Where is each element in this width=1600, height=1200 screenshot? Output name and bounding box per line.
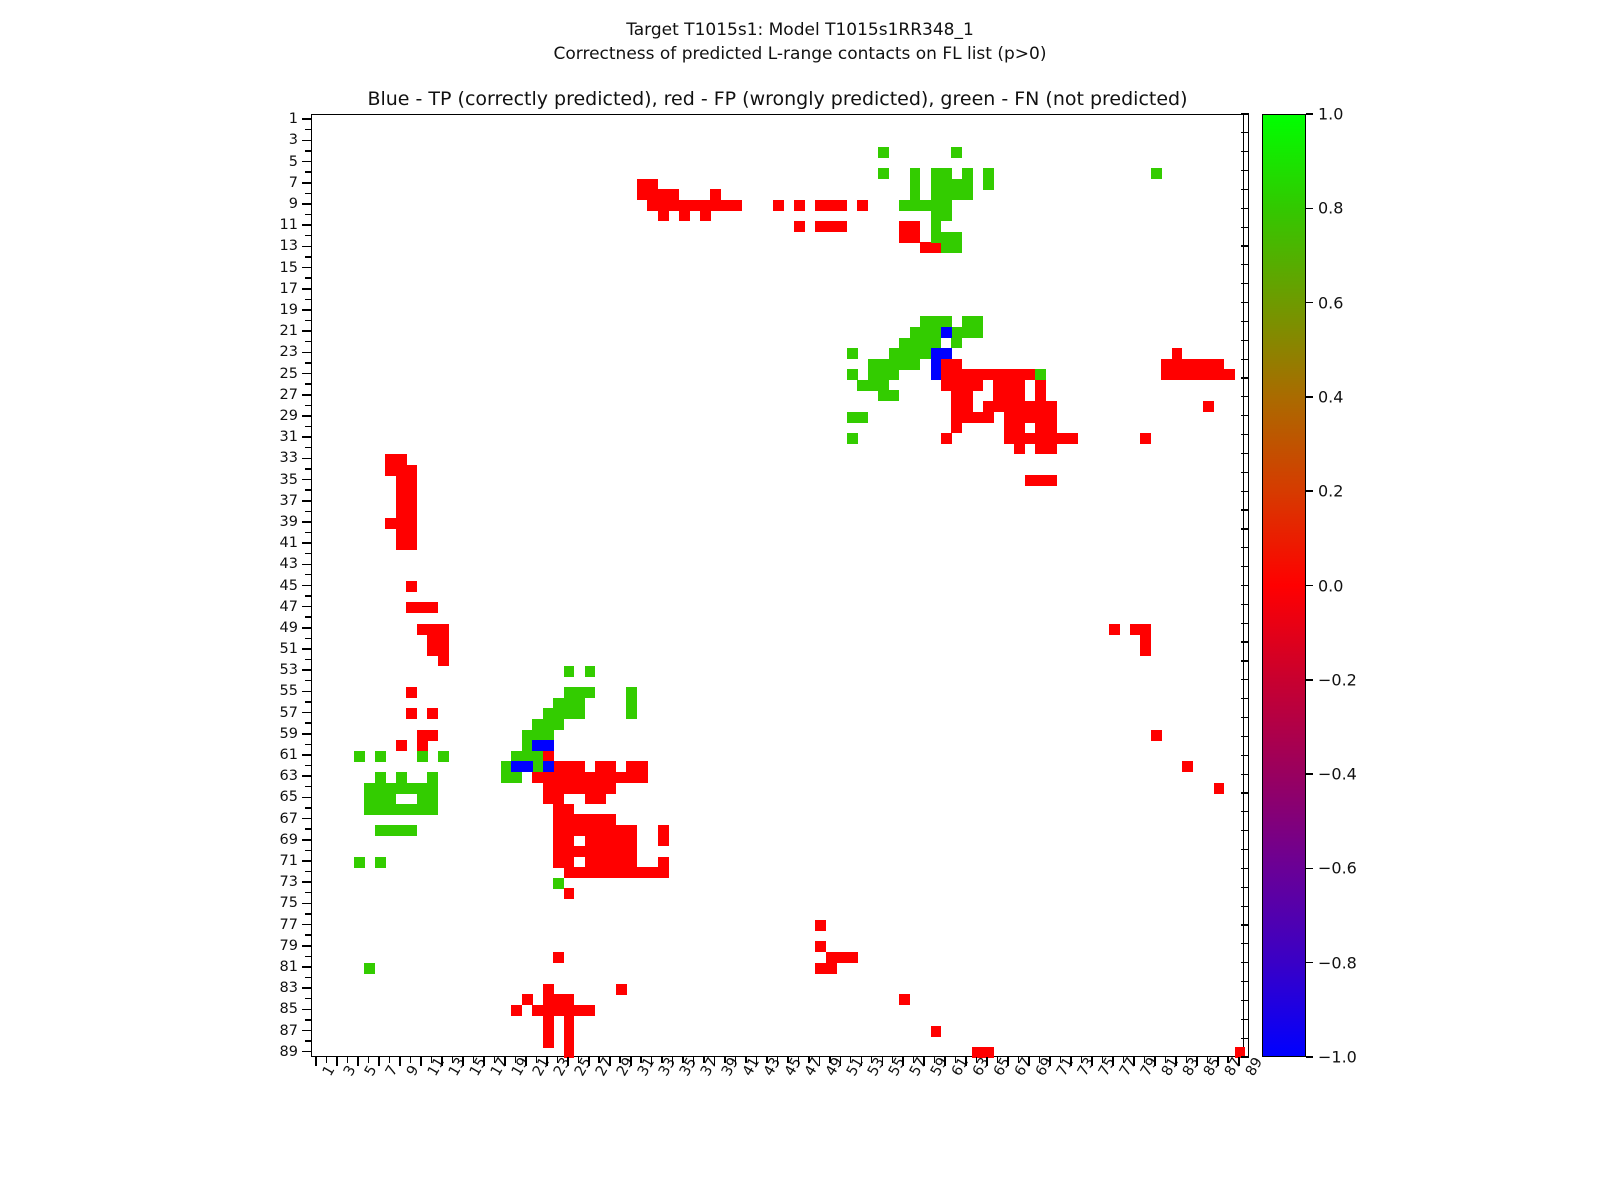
x-axis-tick: [630, 1057, 632, 1066]
contact-cell-fn: [385, 793, 396, 804]
y-axis-tick: [305, 680, 311, 681]
contact-cell-fp: [606, 846, 617, 857]
contact-cell-fp: [1046, 422, 1057, 433]
y-axis-tick: [305, 405, 311, 406]
colorbar-minor-tick: [1241, 359, 1249, 360]
colorbar-minor-tick: [1241, 208, 1249, 209]
contact-cell-fn: [543, 708, 554, 719]
contact-cell-fp: [543, 1005, 554, 1016]
contact-cell-fn: [972, 327, 983, 338]
contact-cell-fn: [385, 825, 396, 836]
contact-cell-fn: [920, 338, 931, 349]
y-axis-label: 31: [0, 429, 298, 445]
contact-cell-fn: [626, 698, 637, 709]
x-axis-tick: [724, 1057, 725, 1063]
x-axis-tick: [1112, 1057, 1114, 1066]
x-axis-label: 39: [719, 1055, 742, 1079]
x-axis-label: 79: [1138, 1055, 1161, 1079]
y-axis-tick: [302, 267, 311, 269]
y-axis-tick: [305, 913, 311, 914]
y-axis-tick: [305, 616, 311, 617]
x-axis-tick: [441, 1057, 443, 1066]
contact-cell-fn: [385, 804, 396, 815]
contact-cell-fp: [826, 221, 837, 232]
contact-cell-fp: [1172, 359, 1183, 370]
contact-cell-fp: [406, 486, 417, 497]
x-axis-tick: [672, 1057, 674, 1066]
x-axis-tick: [1091, 1057, 1093, 1066]
colorbar-minor-tick: [1241, 717, 1249, 718]
colorbar-minor-tick: [1241, 264, 1249, 265]
contact-cell-fn: [574, 698, 585, 709]
x-axis-label: 61: [949, 1055, 972, 1079]
x-axis-tick: [378, 1057, 380, 1066]
y-axis-label: 21: [0, 323, 298, 339]
y-axis-tick: [305, 934, 311, 935]
x-axis-label: 45: [782, 1055, 805, 1079]
contact-cell-fp: [553, 814, 564, 825]
contact-cell-fn: [532, 761, 543, 772]
contact-cell-fn: [983, 168, 994, 179]
contact-cell-fp: [1014, 390, 1025, 401]
x-axis-tick: [336, 1057, 338, 1066]
colorbar-tick: [1306, 773, 1313, 775]
contact-cell-fn: [868, 369, 879, 380]
contact-cell-fp: [689, 200, 700, 211]
contact-cell-fp: [406, 708, 417, 719]
y-axis-tick: [302, 648, 311, 650]
contact-cell-fn: [385, 783, 396, 794]
contact-cell-fp: [574, 825, 585, 836]
x-axis-tick: [934, 1057, 935, 1063]
x-axis-tick: [315, 1057, 317, 1066]
x-axis-tick: [578, 1057, 579, 1063]
contact-cell-tp: [931, 348, 942, 359]
y-axis-tick: [305, 277, 311, 278]
contact-cell-fp: [1014, 443, 1025, 454]
x-axis-tick: [1123, 1057, 1124, 1063]
y-axis-label: 65: [0, 789, 298, 805]
colorbar-minor-tick: [1241, 321, 1249, 322]
contact-cell-fn: [951, 232, 962, 243]
y-axis-tick: [302, 733, 311, 735]
y-axis-tick: [305, 235, 311, 236]
contact-cell-fp: [637, 189, 648, 200]
y-axis-tick: [305, 532, 311, 533]
contact-cell-fn: [920, 200, 931, 211]
contact-cell-fp: [543, 783, 554, 794]
contact-cell-fp: [543, 994, 554, 1005]
contact-cell-fp: [1203, 401, 1214, 412]
x-axis-tick: [462, 1057, 464, 1066]
contact-cell-fp: [585, 857, 596, 868]
contact-cell-fp: [637, 772, 648, 783]
colorbar-minor-tick: [1241, 830, 1249, 831]
colorbar-minor-tick: [1241, 302, 1249, 303]
contact-cell-fn: [417, 783, 428, 794]
contact-cell-fp: [396, 518, 407, 529]
x-axis-tick: [840, 1057, 842, 1066]
title-line-2: Correctness of predicted L-range contact…: [0, 42, 1600, 66]
y-axis-label: 43: [0, 556, 298, 572]
contact-cell-fn: [951, 179, 962, 190]
x-axis-label: 33: [656, 1055, 679, 1079]
x-axis-label: 83: [1180, 1055, 1203, 1079]
x-axis-tick: [1227, 1057, 1228, 1063]
x-axis-tick: [997, 1057, 998, 1063]
contact-cell-fp: [658, 857, 669, 868]
y-axis-label: 55: [0, 683, 298, 699]
contact-cell-fp: [553, 761, 564, 772]
x-axis-tick: [1175, 1057, 1177, 1066]
y-axis-label: 79: [0, 938, 298, 954]
y-axis-tick: [302, 140, 311, 142]
contact-cell-fp: [385, 454, 396, 465]
contact-map-axes[interactable]: [311, 114, 1244, 1057]
colorbar-tick-label: −0.4: [1318, 765, 1357, 784]
contact-cell-fp: [1140, 433, 1151, 444]
colorbar-minor-tick: [1241, 170, 1249, 171]
x-axis-tick: [735, 1057, 737, 1066]
y-axis-tick: [302, 839, 311, 841]
contact-cell-fp: [564, 825, 575, 836]
x-axis-tick: [598, 1057, 599, 1063]
y-axis-label: 71: [0, 853, 298, 869]
contact-cell-fp: [606, 835, 617, 846]
contact-cell-fp: [679, 200, 690, 211]
contact-cell-fp: [427, 730, 438, 741]
contact-cell-fp: [668, 200, 679, 211]
contact-cell-fn: [951, 189, 962, 200]
y-axis-label: 29: [0, 408, 298, 424]
contact-cell-fn: [847, 348, 858, 359]
contact-cell-fn: [951, 338, 962, 349]
y-axis-tick: [302, 309, 311, 311]
contact-cell-fp: [574, 772, 585, 783]
contact-cell-fp: [993, 390, 1004, 401]
contact-cell-fn: [857, 380, 868, 391]
contact-cell-fn: [951, 242, 962, 253]
y-axis-label: 75: [0, 895, 298, 911]
contact-cell-fp: [406, 581, 417, 592]
contact-cell-fp: [1151, 730, 1162, 741]
contact-cell-fp: [626, 761, 637, 772]
contact-cell-fp: [595, 772, 606, 783]
contact-cell-fp: [1014, 433, 1025, 444]
colorbar-minor-tick: [1241, 415, 1249, 416]
contact-cell-fp: [1025, 369, 1036, 380]
contact-cell-fn: [364, 793, 375, 804]
x-axis-label: 43: [761, 1055, 784, 1079]
x-axis-tick: [326, 1057, 327, 1063]
colorbar-minor-tick: [1241, 774, 1249, 775]
x-axis-tick: [651, 1057, 653, 1066]
contact-cell-fp: [564, 772, 575, 783]
contact-cell-fp: [1203, 369, 1214, 380]
x-axis-tick: [494, 1057, 495, 1063]
x-axis-label: 35: [677, 1055, 700, 1079]
contact-cell-tp: [931, 359, 942, 370]
contact-cell-fp: [427, 645, 438, 656]
y-axis-label: 57: [0, 705, 298, 721]
x-axis-tick: [1049, 1057, 1051, 1066]
x-axis-tick: [1060, 1057, 1061, 1063]
contact-cell-fp: [564, 1005, 575, 1016]
contact-cell-fp: [951, 401, 962, 412]
contact-cell-fp: [626, 857, 637, 868]
y-axis-tick: [302, 924, 311, 926]
contact-cell-fn: [417, 751, 428, 762]
colorbar-tick: [1306, 679, 1313, 681]
y-axis-label: 77: [0, 917, 298, 933]
y-axis-tick: [302, 415, 311, 417]
contact-cell-fp: [637, 761, 648, 772]
x-axis-tick: [944, 1057, 946, 1066]
y-axis-tick: [305, 150, 311, 151]
contact-cell-fp: [941, 359, 952, 370]
contact-cell-fp: [396, 465, 407, 476]
contact-cell-fp: [616, 835, 627, 846]
contact-cell-fp: [438, 624, 449, 635]
x-axis-label: 55: [886, 1055, 909, 1079]
colorbar-tick: [1306, 208, 1313, 210]
contact-cell-fp: [910, 221, 921, 232]
x-axis-tick: [1207, 1057, 1208, 1063]
contact-cell-fp: [553, 846, 564, 857]
colorbar: [1262, 114, 1306, 1057]
contact-cell-fp: [993, 380, 1004, 391]
contact-cell-fn: [375, 783, 386, 794]
contact-cell-fp: [406, 475, 417, 486]
contact-cell-tp: [941, 327, 952, 338]
colorbar-minor-tick: [1241, 792, 1249, 793]
contact-cell-fp: [595, 761, 606, 772]
contact-cell-fp: [910, 232, 921, 243]
contact-cell-fn: [585, 666, 596, 677]
contact-cell-tp: [522, 761, 533, 772]
contact-cell-fp: [564, 835, 575, 846]
contact-cell-fp: [710, 189, 721, 200]
contact-cell-fp: [606, 814, 617, 825]
y-axis-tick: [305, 574, 311, 575]
contact-cell-fn: [972, 316, 983, 327]
contact-cell-fp: [647, 200, 658, 211]
colorbar-minor-tick: [1241, 189, 1249, 190]
x-axis-tick: [756, 1057, 758, 1066]
y-axis-tick: [305, 638, 311, 639]
contact-cell-fp: [794, 221, 805, 232]
contact-cell-fn: [396, 804, 407, 815]
contact-cell-fp: [1004, 380, 1015, 391]
x-axis-tick: [557, 1057, 558, 1063]
colorbar-minor-tick: [1241, 1038, 1249, 1039]
contact-cell-fn: [962, 327, 973, 338]
contact-cell-fp: [595, 814, 606, 825]
contact-cell-fp: [951, 380, 962, 391]
x-axis-tick: [1018, 1057, 1019, 1063]
y-axis-tick: [305, 701, 311, 702]
contact-cell-fn: [585, 687, 596, 698]
contact-cell-fp: [1193, 359, 1204, 370]
contact-cell-fp: [972, 412, 983, 423]
x-axis-tick: [1102, 1057, 1103, 1063]
x-axis-tick: [1165, 1057, 1166, 1063]
contact-cell-tp: [941, 348, 952, 359]
contact-cell-fn: [889, 359, 900, 370]
contact-cell-fp: [1035, 380, 1046, 391]
contact-cell-fn: [543, 719, 554, 730]
contact-cell-fp: [951, 412, 962, 423]
x-axis-tick: [902, 1057, 904, 1066]
colorbar-minor-tick: [1241, 283, 1249, 284]
contact-cell-fn: [364, 804, 375, 815]
contact-cell-fp: [616, 867, 627, 878]
contact-cell-fn: [847, 369, 858, 380]
contact-cell-fp: [1182, 359, 1193, 370]
contact-cell-fp: [1214, 369, 1225, 380]
colorbar-minor-tick: [1241, 434, 1249, 435]
y-axis-label: 17: [0, 281, 298, 297]
contact-cell-fp: [647, 189, 658, 200]
contact-cell-fn: [543, 730, 554, 741]
contact-cell-fp: [406, 528, 417, 539]
contact-cell-fp: [564, 867, 575, 878]
contact-cell-fp: [983, 1047, 994, 1058]
contact-cell-fn: [364, 963, 375, 974]
contact-cell-fn: [847, 412, 858, 423]
x-axis-label: 85: [1201, 1055, 1224, 1079]
x-axis-tick: [976, 1057, 977, 1063]
contact-cell-fp: [585, 772, 596, 783]
contact-cell-fp: [1035, 401, 1046, 412]
x-axis-tick: [515, 1057, 516, 1063]
contact-cell-fp: [1182, 761, 1193, 772]
contact-cell-fn: [878, 390, 889, 401]
contact-cell-fp: [606, 825, 617, 836]
contact-cell-fp: [606, 761, 617, 772]
contact-cell-fp: [532, 1005, 543, 1016]
contact-cell-fp: [564, 783, 575, 794]
y-axis-tick: [302, 436, 311, 438]
contact-cell-fp: [1035, 475, 1046, 486]
contact-cell-fp: [815, 941, 826, 952]
contact-cell-fp: [1004, 412, 1015, 423]
contact-cell-fp: [1224, 369, 1235, 380]
contact-cell-fn: [899, 200, 910, 211]
contact-cell-fp: [564, 857, 575, 868]
contact-cell-fp: [406, 539, 417, 550]
contact-cell-fp: [574, 814, 585, 825]
colorbar-tick: [1306, 396, 1313, 398]
colorbar-minor-tick: [1241, 151, 1249, 152]
contact-cell-fn: [396, 772, 407, 783]
contact-cell-fp: [1004, 401, 1015, 412]
y-axis-tick: [302, 987, 311, 989]
contact-cell-fp: [1214, 359, 1225, 370]
x-axis-label: 49: [823, 1055, 846, 1079]
x-axis-tick: [819, 1057, 821, 1066]
contact-cell-fp: [616, 772, 627, 783]
colorbar-tick: [1306, 962, 1313, 964]
y-axis-tick: [302, 352, 311, 354]
contact-cell-fn: [375, 825, 386, 836]
contact-cell-fp: [1046, 433, 1057, 444]
x-axis-tick: [420, 1057, 422, 1066]
contact-cell-fn: [375, 772, 386, 783]
x-axis-tick: [536, 1057, 537, 1063]
contact-cell-fp: [626, 825, 637, 836]
x-axis-tick: [1070, 1057, 1072, 1066]
colorbar-minor-tick: [1241, 453, 1249, 454]
x-axis-tick: [850, 1057, 851, 1063]
contact-cell-fp: [616, 825, 627, 836]
contact-cell-tp: [543, 740, 554, 751]
contact-cell-fp: [1172, 369, 1183, 380]
contact-cell-fn: [564, 698, 575, 709]
contact-cell-fn: [899, 348, 910, 359]
contact-cell-fp: [836, 221, 847, 232]
contact-cell-fp: [606, 783, 617, 794]
contact-cell-fn: [878, 147, 889, 158]
contact-cell-fp: [553, 793, 564, 804]
colorbar-minor-tick: [1241, 981, 1249, 982]
contact-cell-fp: [1046, 401, 1057, 412]
contact-cell-fp: [993, 401, 1004, 412]
y-axis-tick: [305, 489, 311, 490]
contact-cell-fp: [553, 952, 564, 963]
contact-cell-fn: [941, 316, 952, 327]
contact-cell-fp: [595, 857, 606, 868]
y-axis-tick: [305, 299, 311, 300]
contact-cell-fp: [417, 740, 428, 751]
y-axis-tick: [305, 659, 311, 660]
x-axis-label: 31: [635, 1055, 658, 1079]
contact-cell-fp: [626, 867, 637, 878]
contact-cell-fp: [553, 994, 564, 1005]
contact-cell-fp: [826, 952, 837, 963]
y-axis-tick: [302, 246, 311, 248]
y-axis-label: 7: [0, 175, 298, 191]
y-axis-tick: [305, 193, 311, 194]
y-axis-label: 83: [0, 980, 298, 996]
colorbar-minor-tick: [1241, 906, 1249, 907]
x-axis-tick: [1196, 1057, 1198, 1066]
contact-cell-fn: [564, 687, 575, 698]
contact-cell-fp: [585, 814, 596, 825]
x-axis-tick: [546, 1057, 548, 1066]
contact-cell-fp: [564, 1016, 575, 1027]
contact-cell-fn: [553, 878, 564, 889]
x-axis-label: 47: [802, 1055, 825, 1079]
x-axis-label: 63: [970, 1055, 993, 1079]
x-axis-tick: [389, 1057, 390, 1063]
contact-cell-fp: [1067, 433, 1078, 444]
contact-cell-fp: [574, 846, 585, 857]
contact-cell-fn: [931, 338, 942, 349]
contact-cell-fp: [731, 200, 742, 211]
contact-cell-fn: [511, 751, 522, 762]
x-axis-tick: [452, 1057, 453, 1063]
contact-cell-fp: [1025, 433, 1036, 444]
x-axis-tick: [1028, 1057, 1030, 1066]
contact-cell-fn: [878, 168, 889, 179]
contact-cell-fp: [585, 846, 596, 857]
contact-cell-fp: [668, 189, 679, 200]
contact-cell-tp: [532, 740, 543, 751]
y-axis-label: 25: [0, 366, 298, 382]
y-axis-label: 53: [0, 662, 298, 678]
colorbar-tick-label: 0.2: [1318, 482, 1343, 501]
